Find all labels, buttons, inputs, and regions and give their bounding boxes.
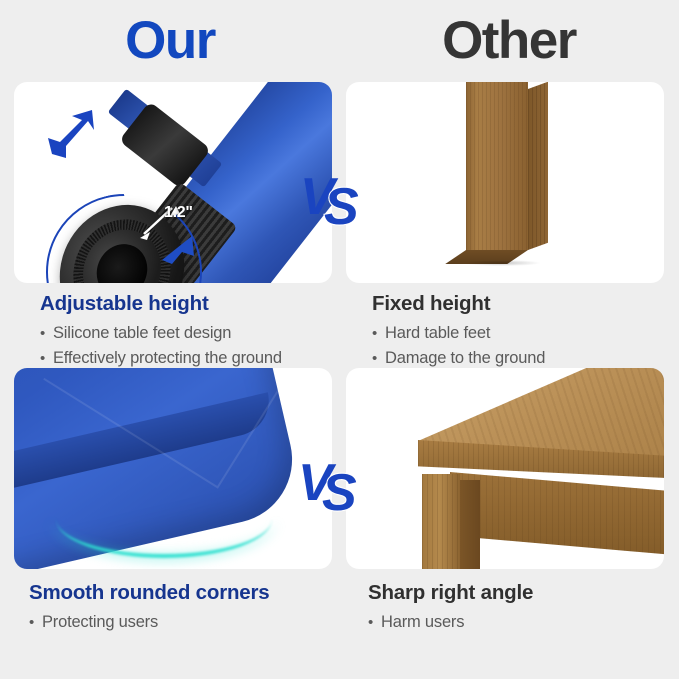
text-other-fixed-height: Fixed height Hard table feet Damage to t… [372, 291, 672, 371]
wood-table-leg-side [460, 480, 480, 569]
wood-leg-front-face [466, 82, 528, 250]
panel-other-sharp-angle [346, 368, 664, 569]
text-other-sharp-angle: Sharp right angle Harm users [368, 580, 668, 635]
artwork-blue-rounded-corner [14, 368, 332, 569]
list-item: Silicone table feet design [40, 321, 340, 346]
feature-title: Fixed height [372, 291, 672, 317]
list-item: Protecting users [29, 610, 339, 635]
feature-bullet-list: Hard table feet Damage to the ground [372, 321, 672, 371]
measurement-label: 1.2" [164, 204, 193, 222]
image-card-sharp-corner [346, 368, 664, 569]
cyan-glow-arc [56, 480, 272, 558]
wood-table-apron-shape [450, 472, 664, 558]
image-card-rounded-corner [14, 368, 332, 569]
header-title-other: Other [339, 8, 679, 74]
feature-bullet-list: Silicone table feet design Effectively p… [40, 321, 340, 371]
feature-title: Adjustable height [40, 291, 340, 317]
header-title-ours: Our [0, 8, 340, 74]
text-ours-adjustable-height: Adjustable height Silicone table feet de… [40, 291, 340, 371]
artwork-wood-leg [346, 82, 664, 283]
text-ours-rounded-corners: Smooth rounded corners Protecting users [29, 580, 339, 635]
feature-title: Sharp right angle [368, 580, 668, 606]
image-card-fixed-leg [346, 82, 664, 283]
feature-title: Smooth rounded corners [29, 580, 339, 606]
artwork-adjustable-foot: 1.2" [14, 82, 332, 283]
wood-leg-shadow [464, 260, 540, 266]
wood-leg-side-face [528, 82, 548, 250]
wood-table-leg-front [422, 474, 460, 569]
image-card-adjustable-foot: 1.2" [14, 82, 332, 283]
artwork-wood-table-corner [346, 368, 664, 569]
header-row: Our Other [0, 0, 679, 80]
list-item: Harm users [368, 610, 668, 635]
comparison-infographic: Our Other [0, 0, 679, 679]
feature-bullet-list: Harm users [368, 610, 668, 635]
rotation-arrowhead-icon [158, 230, 204, 270]
feature-bullet-list: Protecting users [29, 610, 339, 635]
list-item: Hard table feet [372, 321, 672, 346]
panel-other-fixed-height [346, 82, 664, 283]
panel-ours-rounded-corners [14, 368, 332, 569]
panel-ours-adjustable-height: 1.2" [14, 82, 332, 283]
double-arrow-icon [36, 102, 116, 164]
